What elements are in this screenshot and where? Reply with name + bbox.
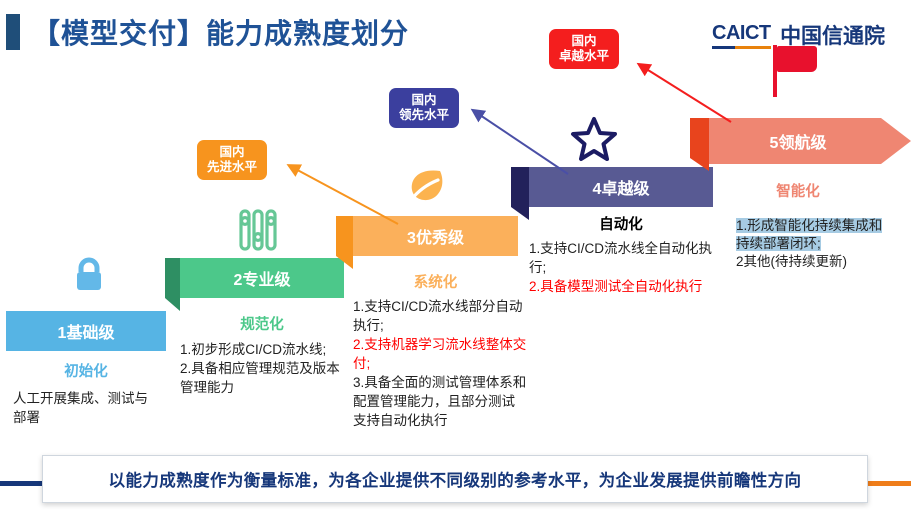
- level-5-desc-line-1: 1.形成智能化持续集成和持续部署闭环;: [736, 218, 882, 251]
- badge-line-1: 国内: [572, 34, 597, 48]
- level-3-bar: 3优秀级: [336, 216, 518, 269]
- badge-domestic-advanced: 国内 先进水平: [197, 140, 267, 180]
- arrow-to-leading-badge: [474, 111, 568, 174]
- level-4-title: 4卓越级: [529, 167, 713, 207]
- footer-banner-text: 以能力成熟度作为衡量标准，为各企业提供不同级别的参考水平，为企业发展提供前瞻性方…: [109, 467, 802, 491]
- footer-rule-left: [0, 481, 48, 486]
- level-2-description: 1.初步形成CI/CD流水线; 2.具备相应管理规范及版本管理能力: [180, 340, 352, 397]
- lock-icon: [70, 255, 108, 302]
- page-title: 【模型交付】能力成熟度划分: [32, 12, 409, 52]
- level-3-subtitle: 系统化: [353, 271, 518, 292]
- badge-line-1: 国内: [220, 145, 245, 159]
- level-5-bar: 5领航级: [690, 118, 911, 171]
- badge-line-2: 先进水平: [207, 160, 257, 174]
- arrow-to-excellent-badge: [640, 65, 731, 122]
- level-2-subtitle: 规范化: [180, 313, 344, 334]
- level-4-desc-line-1: 1.支持CI/CD流水线全自动化执行;: [529, 239, 713, 277]
- level-5-description: 1.形成智能化持续集成和持续部署闭环; 2其他(待持续更新): [736, 217, 892, 271]
- level-3-desc-line-3: 3.具备全面的测试管理体系和配置管理能力，且部分测试支持自动化执行: [353, 373, 527, 430]
- level-3-title: 3优秀级: [353, 216, 518, 256]
- badge-line-1: 国内: [412, 93, 437, 107]
- badge-domestic-leading: 国内 领先水平: [389, 88, 459, 128]
- footer-banner: 以能力成熟度作为衡量标准，为各企业提供不同级别的参考水平，为企业发展提供前瞻性方…: [42, 455, 868, 503]
- level-4-subtitle: 自动化: [529, 213, 713, 234]
- level-3-side-shadow: [336, 216, 353, 269]
- level-1-title: 1基础级: [6, 311, 166, 351]
- level-2-desc-line-1: 1.初步形成CI/CD流水线;: [180, 340, 352, 359]
- sliders-icon: [236, 207, 280, 258]
- level-3-desc-line-1: 1.支持CI/CD流水线部分自动执行;: [353, 297, 527, 335]
- level-5-side-shadow: [690, 118, 709, 171]
- level-1-description: 人工开展集成、测试与部署: [13, 389, 161, 427]
- level-4-desc-line-2: 2.具备模型测试全自动化执行: [529, 277, 713, 296]
- star-icon: [570, 115, 618, 168]
- logo-underline-blue: [712, 46, 735, 49]
- caict-logo-text: CAICT: [712, 22, 771, 44]
- badge-line-2: 卓越水平: [559, 49, 609, 63]
- caict-logo: CAICT 中国信通院: [712, 20, 885, 46]
- leaf-icon: [404, 166, 446, 211]
- level-2-desc-line-2: 2.具备相应管理规范及版本管理能力: [180, 359, 352, 397]
- slide-canvas: 【模型交付】能力成熟度划分 CAICT 中国信通院 国内 卓越水平 国内 领先水…: [0, 0, 911, 510]
- badge-line-2: 领先水平: [399, 108, 449, 122]
- level-5-title: 5领航级: [709, 118, 887, 164]
- level-2-title: 2专业级: [180, 258, 344, 298]
- logo-underline-orange: [735, 46, 770, 49]
- flag-cloth: [777, 46, 817, 72]
- level-4-side-shadow: [511, 167, 529, 220]
- level-5-desc-line-2: 2其他(待持续更新): [736, 253, 892, 271]
- level-2-bar: 2专业级: [165, 258, 344, 311]
- level-3-description: 1.支持CI/CD流水线部分自动执行; 2.支持机器学习流水线整体交付; 3.具…: [353, 297, 527, 430]
- level-4-description: 1.支持CI/CD流水线全自动化执行; 2.具备模型测试全自动化执行: [529, 239, 713, 296]
- footer-rule-right: [864, 481, 911, 486]
- badge-domestic-excellent: 国内 卓越水平: [549, 29, 619, 69]
- title-accent-bar: [6, 14, 20, 50]
- caict-logo-mark: CAICT: [712, 22, 771, 49]
- level-5-subtitle: 智能化: [709, 180, 887, 201]
- level-1-desc-line-1: 人工开展集成、测试与部署: [13, 391, 148, 425]
- level-1-bar: 1基础级: [6, 311, 166, 351]
- level-3-desc-line-2: 2.支持机器学习流水线整体交付;: [353, 335, 527, 373]
- level-1-subtitle: 初始化: [6, 360, 166, 381]
- red-flag-icon: [773, 45, 819, 97]
